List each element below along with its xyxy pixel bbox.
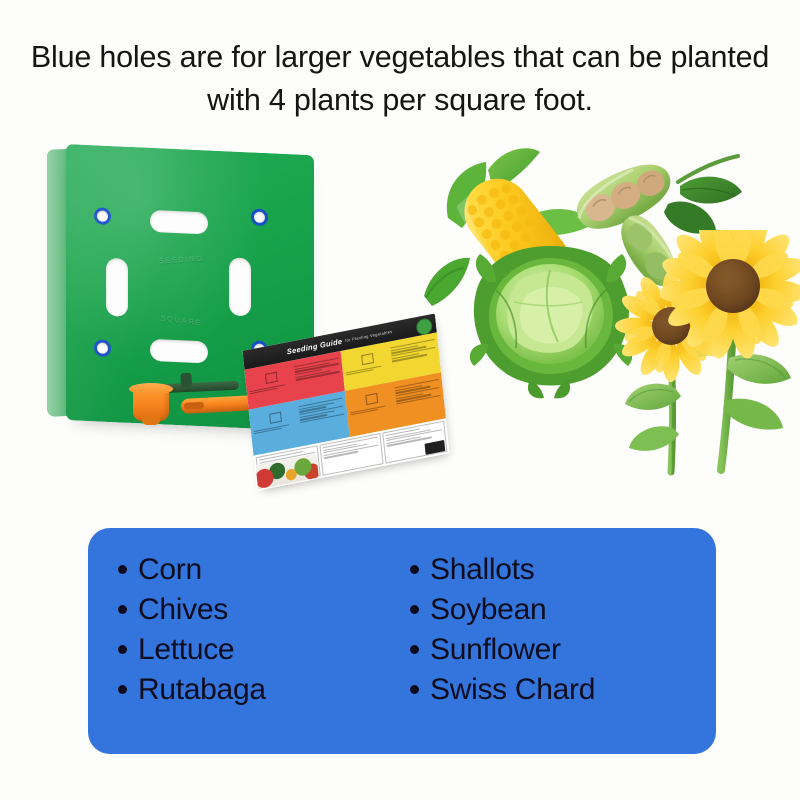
- bullet-icon: [118, 685, 127, 694]
- list-item-label: Sunflower: [430, 630, 561, 670]
- bullet-icon: [118, 565, 127, 574]
- bullet-icon: [410, 645, 419, 654]
- list-item-label: Rutabaga: [138, 670, 266, 710]
- bullet-icon: [410, 605, 419, 614]
- emboss-text-bottom: SQUARE: [148, 312, 214, 329]
- blue-hole-top-left: [94, 207, 111, 225]
- bullet-icon: [118, 645, 127, 654]
- list-item: Sunflower: [410, 630, 682, 670]
- cabbage-illustration: [466, 240, 636, 400]
- blue-hole-bottom-left: [94, 339, 111, 357]
- page-title: Blue holes are for larger vegetables tha…: [0, 36, 800, 123]
- list-item: Shallots: [410, 550, 682, 590]
- white-slot-top: [150, 210, 208, 235]
- list-item-label: Chives: [138, 590, 228, 630]
- list-item: Corn: [118, 550, 390, 590]
- white-slot-bottom: [150, 339, 208, 364]
- list-item-label: Swiss Chard: [430, 670, 595, 710]
- vegetable-list-box: Corn Chives Lettuce Rutabaga Shallots: [88, 528, 716, 754]
- list-item: Rutabaga: [118, 670, 390, 710]
- vegetable-list-left-column: Corn Chives Lettuce Rutabaga: [118, 550, 390, 732]
- vegetable-list-right-column: Shallots Soybean Sunflower Swiss Chard: [390, 550, 682, 732]
- white-slot-left: [106, 258, 128, 317]
- infographic-page: Blue holes are for larger vegetables tha…: [0, 0, 800, 800]
- white-slot-right: [229, 257, 251, 316]
- orange-funnel: [133, 388, 169, 421]
- list-item-label: Soybean: [430, 590, 546, 630]
- list-item: Soybean: [410, 590, 682, 630]
- list-item-label: Shallots: [430, 550, 534, 590]
- guide-card-subtitle: for Planting Vegetables: [345, 329, 393, 343]
- list-item-label: Lettuce: [138, 630, 234, 670]
- embossed-brand-mark: SEEDING SQUARE: [140, 251, 220, 329]
- blue-hole-top-right: [251, 208, 268, 226]
- bullet-icon: [410, 685, 419, 694]
- list-item: Lettuce: [118, 630, 390, 670]
- list-item: Chives: [118, 590, 390, 630]
- list-item-label: Corn: [138, 550, 202, 590]
- list-item: Swiss Chard: [410, 670, 682, 710]
- bullet-icon: [118, 605, 127, 614]
- product-photo-area: SEEDING SQUARE Seeding Guide for Plantin…: [0, 130, 800, 520]
- emboss-text-top: SEEDING: [148, 253, 215, 266]
- sunflower-illustration: [615, 230, 800, 480]
- bullet-icon: [410, 565, 419, 574]
